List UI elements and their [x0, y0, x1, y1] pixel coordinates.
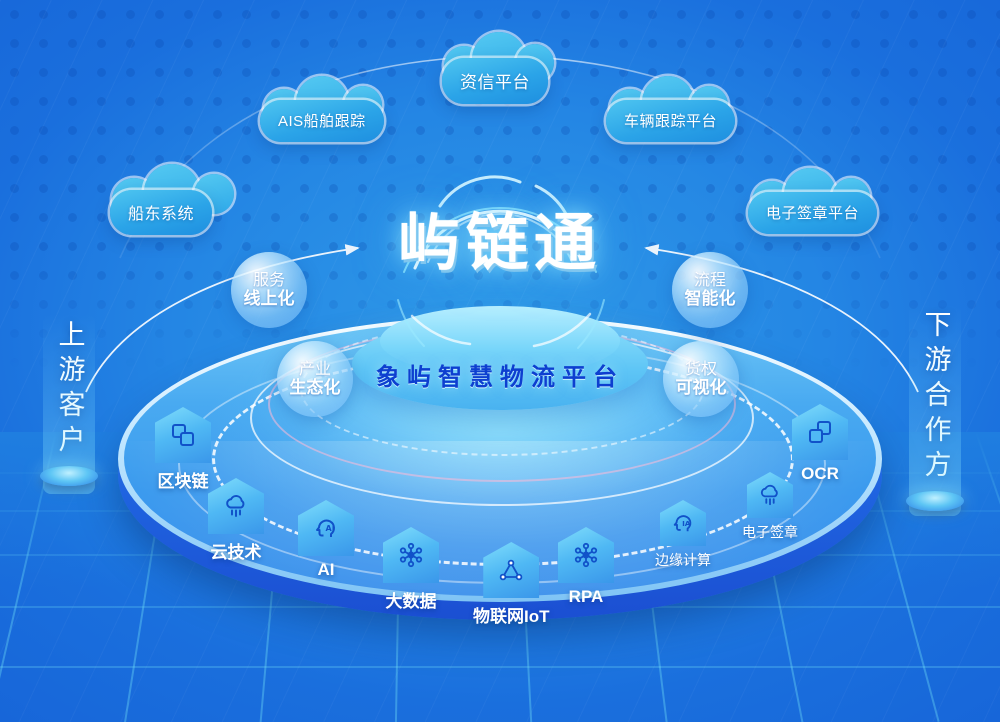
tech-bigdata[interactable]: 大数据	[383, 527, 439, 612]
tech-label: 电子签章	[742, 522, 798, 542]
downstream-partners-pillar: 下游合作方	[906, 310, 964, 511]
tech-rpa[interactable]: RPA	[558, 527, 614, 607]
bigdata-nodes-icon	[383, 527, 439, 583]
platform-subtitle: 象屿智慧物流平台	[0, 357, 1000, 392]
brand-logo: 屿链通	[360, 150, 640, 360]
ocr-squares-icon	[792, 404, 848, 460]
cloud-label: 资信平台	[460, 73, 530, 92]
pillar-base-disc	[40, 466, 98, 486]
tech-ocr[interactable]: OCR	[792, 404, 848, 484]
tech-e-signature[interactable]: 电子签章	[742, 472, 798, 542]
tech-label: AI	[318, 560, 335, 580]
tech-label: 物联网IoT	[473, 602, 550, 627]
tech-label: 云技术	[211, 538, 262, 563]
cloud-e-signature-platform[interactable]: 电子签章平台	[748, 192, 877, 234]
feature-line-1: 流程	[694, 272, 726, 290]
feature-service-online[interactable]: 服务 线上化	[231, 252, 307, 328]
tech-blockchain[interactable]: 区块链	[155, 407, 211, 492]
cloud-credit-platform[interactable]: 资信平台	[442, 58, 548, 104]
svg-text:AI: AI	[326, 524, 335, 533]
tech-label: 区块链	[158, 467, 209, 492]
cloud-label: 车辆跟踪平台	[624, 113, 717, 130]
ai-head-icon: AI	[298, 500, 354, 556]
tech-iot[interactable]: 物联网IoT	[473, 542, 550, 627]
feature-line-2: 线上化	[244, 289, 295, 308]
cloud-icon	[208, 478, 264, 534]
tech-label: 边缘计算	[655, 550, 711, 570]
feature-process-intelligent[interactable]: 流程 智能化	[672, 252, 748, 328]
tech-edge-computing[interactable]: IA 边缘计算	[655, 500, 711, 570]
upstream-customers-pillar: 上游客户	[40, 320, 98, 486]
cloud-label: AIS船舶跟踪	[278, 113, 366, 130]
infographic-canvas: 屿链通 象屿智慧物流平台 船东系统 AIS船舶跟踪 资信平台 车辆跟踪平台 电子…	[0, 0, 1000, 722]
tech-cloud[interactable]: 云技术	[208, 478, 264, 563]
brand-logo-text: 屿链通	[360, 212, 640, 274]
svg-text:IA: IA	[682, 519, 691, 528]
tech-label: RPA	[569, 587, 604, 607]
cloud-label: 船东系统	[128, 206, 194, 223]
feature-line-1: 服务	[253, 272, 285, 290]
blockchain-squares-icon	[155, 407, 211, 463]
cloud-icon	[747, 472, 793, 518]
iot-triangle-icon	[483, 542, 539, 598]
tech-ai[interactable]: AI AI	[298, 500, 354, 580]
cloud-shipowner-system[interactable]: 船东系统	[110, 190, 212, 235]
pillar-base-disc	[906, 491, 964, 511]
edge-computing-head-icon: IA	[660, 500, 706, 546]
cloud-vehicle-tracking-platform[interactable]: 车辆跟踪平台	[606, 100, 735, 142]
tech-label: 大数据	[386, 587, 437, 612]
tech-label: OCR	[801, 464, 839, 484]
feature-line-2: 智能化	[685, 289, 736, 308]
cloud-ais-vessel-tracking[interactable]: AIS船舶跟踪	[260, 100, 384, 142]
cloud-label: 电子签章平台	[766, 205, 859, 222]
rpa-nodes-icon	[558, 527, 614, 583]
